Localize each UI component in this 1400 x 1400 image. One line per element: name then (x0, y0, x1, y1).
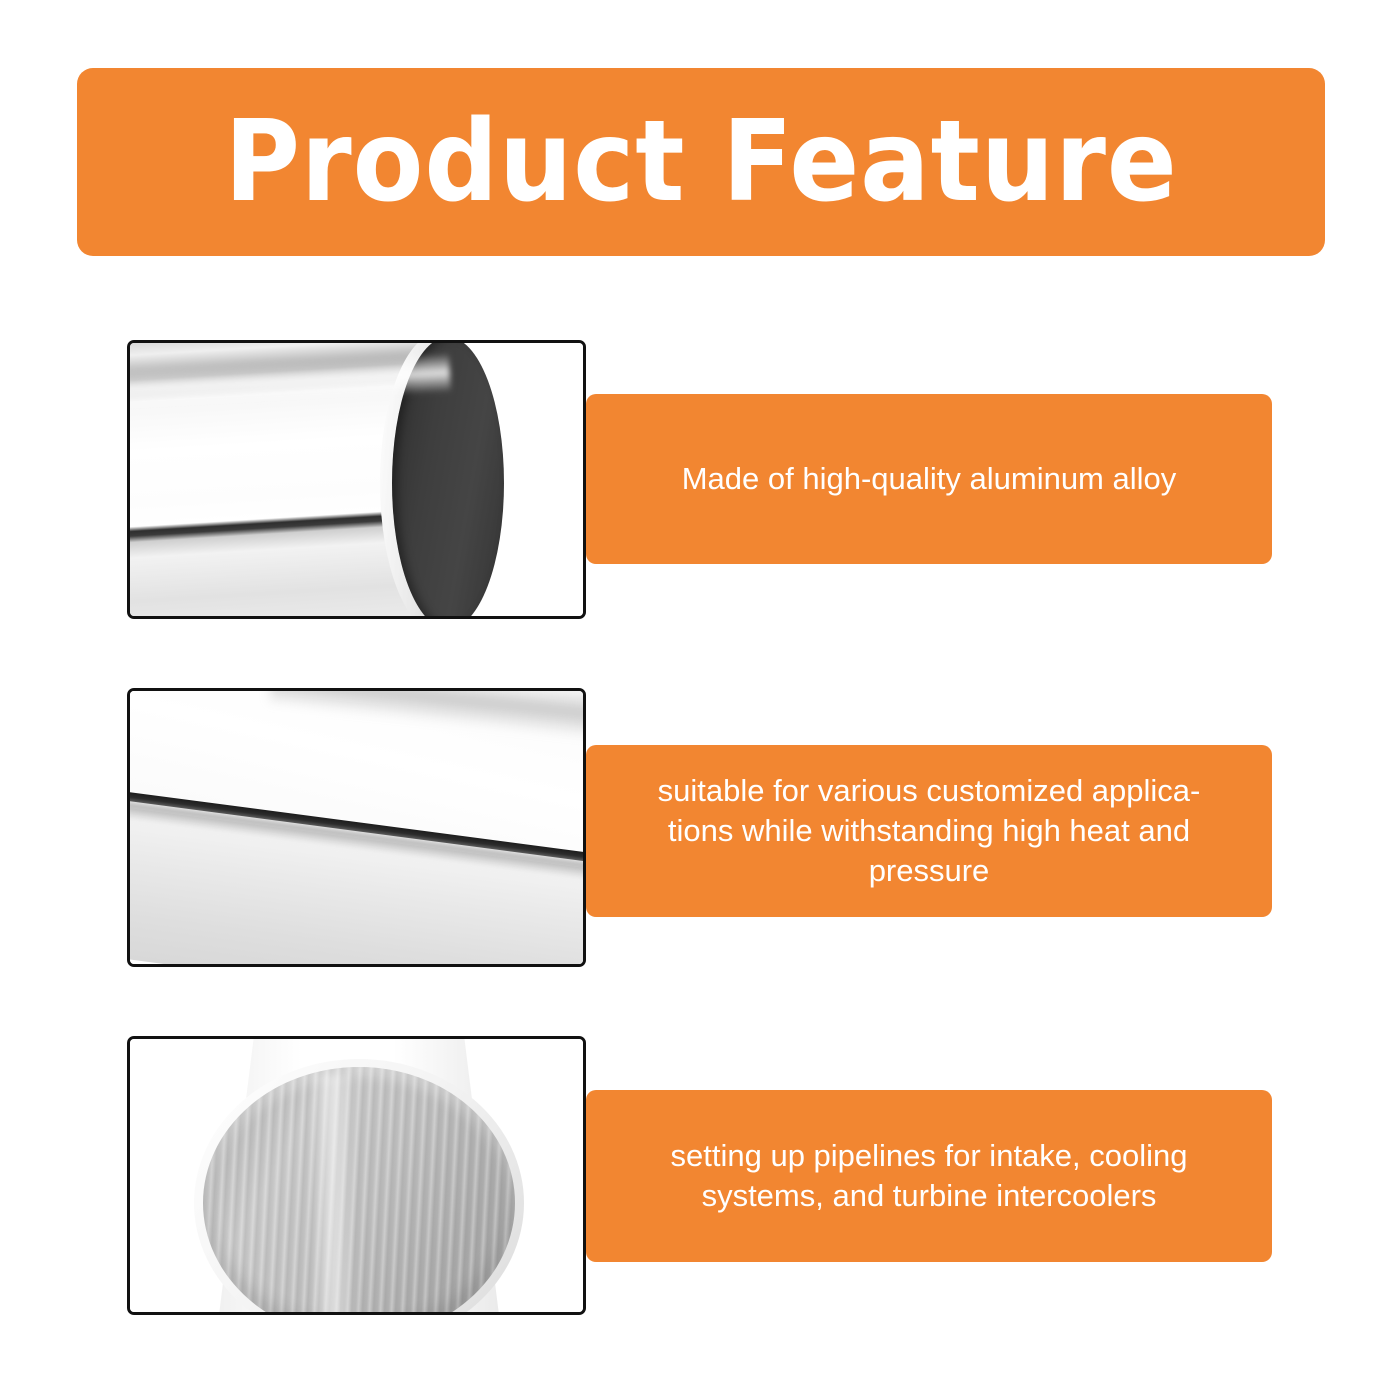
feature-text-panel-1: Made of high-quality aluminum alloy (586, 394, 1272, 564)
feature-text-1: Made of high-quality aluminum alloy (612, 459, 1246, 499)
feature-text-panel-2: suitable for various customized applica-… (586, 745, 1272, 917)
feature-text-line: setting up pipelines for intake, cooling (612, 1136, 1246, 1176)
feature-text-2: suitable for various customized applica-… (612, 771, 1246, 892)
aluminum-tube-end-opening-image (130, 343, 583, 616)
feature-text-line: systems, and turbine intercoolers (612, 1176, 1246, 1216)
page-title: Product Feature (224, 106, 1177, 218)
tube-gloss-highlight (310, 1075, 356, 1312)
feature-text-line: suitable for various customized applica- (612, 771, 1246, 811)
product-feature-header-banner: Product Feature (77, 68, 1325, 256)
feature-image-frame-1 (127, 340, 586, 619)
aluminum-tube-round-face-image (130, 1039, 583, 1312)
feature-image-frame-2 (127, 688, 586, 967)
feature-image-frame-3 (127, 1036, 586, 1315)
feature-text-line: tions while withstanding high heat and (612, 811, 1246, 851)
feature-text-3: setting up pipelines for intake, cooling… (612, 1136, 1246, 1217)
feature-text-line: Made of high-quality aluminum alloy (612, 459, 1246, 499)
aluminum-tube-body-diagonal-image (130, 691, 583, 964)
feature-text-panel-3: setting up pipelines for intake, cooling… (586, 1090, 1272, 1262)
feature-text-line: pressure (612, 851, 1246, 891)
